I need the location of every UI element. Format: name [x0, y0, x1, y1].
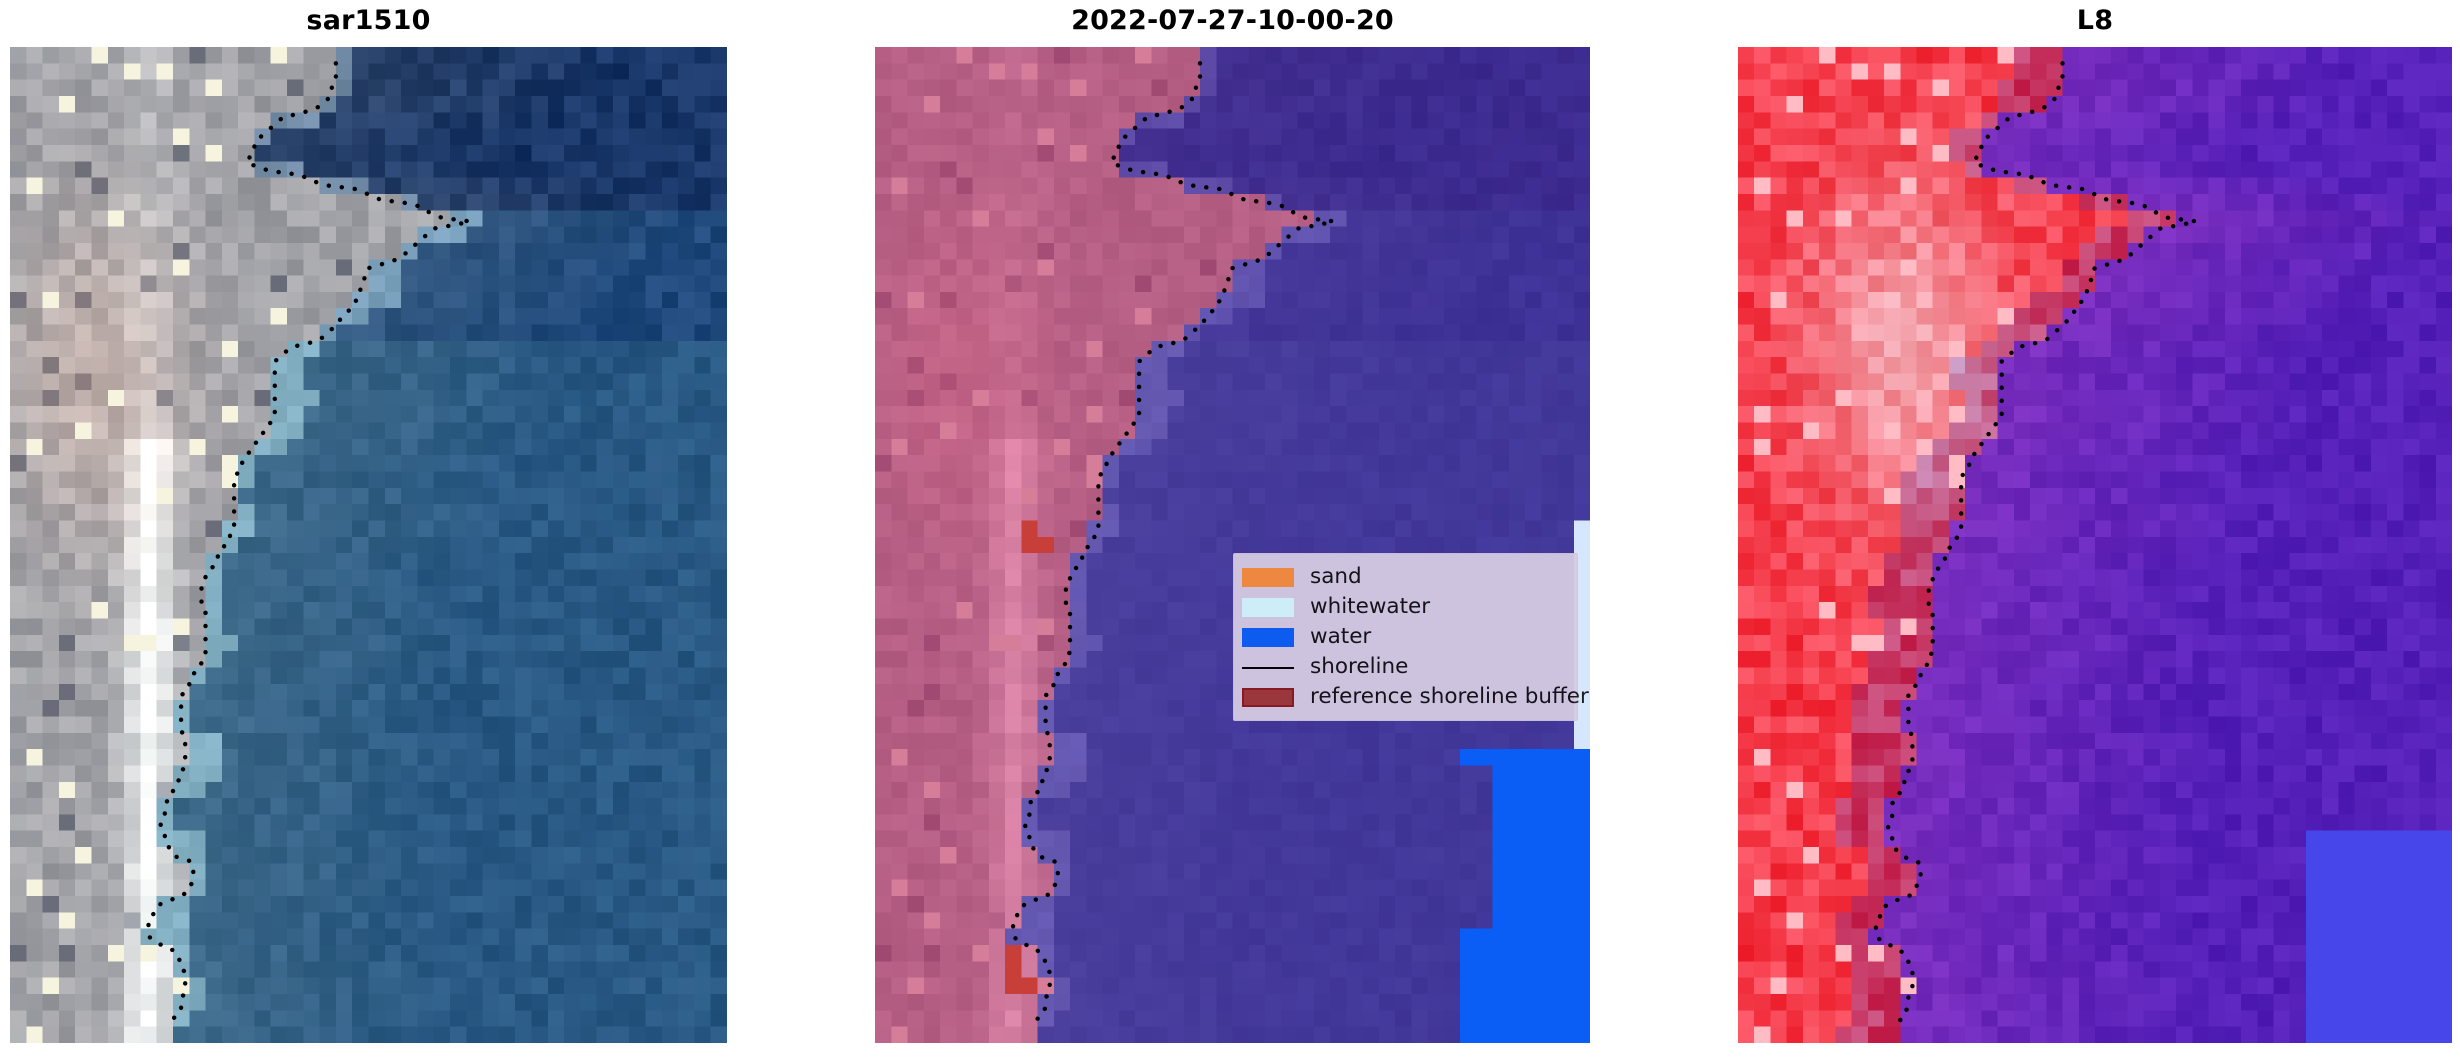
- legend-item-reference-shoreline-buffer: reference shoreline buffer: [1242, 682, 1567, 712]
- legend-item-shoreline: shoreline: [1242, 652, 1567, 682]
- figure-canvas: sar1510 2022-07-27-10-00-20 L8 sand whit…: [0, 0, 2460, 1059]
- legend-item-sand: sand: [1242, 562, 1567, 592]
- legend-swatch-water: [1242, 628, 1294, 647]
- legend-item-whitewater: whitewater: [1242, 592, 1567, 622]
- legend-label-water: water: [1310, 622, 1371, 652]
- image-axes-l8: [1738, 47, 2452, 1043]
- panel-title-l8: L8: [1738, 4, 2452, 38]
- panel-title-sar1510: sar1510: [10, 4, 727, 38]
- legend-label-whitewater: whitewater: [1310, 592, 1430, 622]
- legend-box: sand whitewater water shoreline referenc…: [1233, 553, 1578, 721]
- image-axes-sar1510: [10, 47, 727, 1043]
- legend-swatch-shoreline: [1242, 658, 1294, 677]
- image-axes-classified: [875, 47, 1590, 1043]
- legend-swatch-whitewater: [1242, 598, 1294, 617]
- legend-label-shoreline: shoreline: [1310, 652, 1408, 682]
- legend-item-water: water: [1242, 622, 1567, 652]
- legend-label-reference-shoreline-buffer: reference shoreline buffer: [1310, 682, 1589, 712]
- legend-swatch-reference-shoreline-buffer: [1242, 688, 1294, 707]
- panel-title-classified: 2022-07-27-10-00-20: [875, 4, 1590, 38]
- legend-label-sand: sand: [1310, 562, 1362, 592]
- legend-swatch-sand: [1242, 568, 1294, 587]
